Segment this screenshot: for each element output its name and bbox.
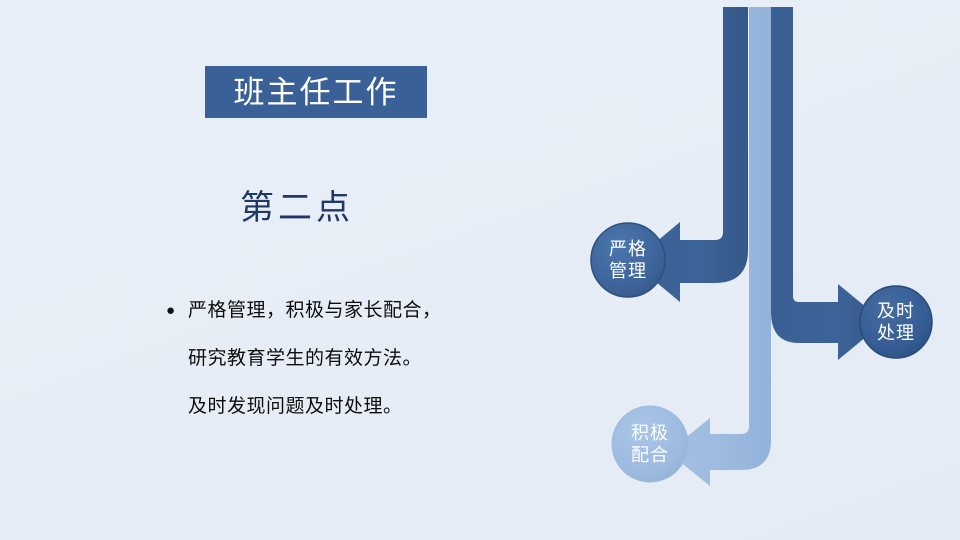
subtitle: 第二点: [240, 192, 354, 226]
node-timely-handling[interactable]: 及时 处理: [860, 286, 932, 358]
process-diagram: 严格 管理 及时 处理 积极 配合: [0, 0, 960, 540]
node-strict-management[interactable]: 严格 管理: [591, 223, 665, 297]
list-item: ● 研究教育学生的有效方法。: [162, 346, 562, 372]
bullet-icon: ●: [162, 298, 188, 324]
list-item: ● 严格管理，积极与家长配合，: [162, 298, 562, 324]
node-label-timely-handling-line1: 及时: [877, 301, 915, 321]
node-label-active-cooperation-line1: 积极: [631, 423, 669, 443]
title-banner: 班主任工作: [205, 66, 427, 118]
node-active-cooperation[interactable]: 积极 配合: [612, 406, 688, 482]
node-label-strict-management-line1: 严格: [609, 239, 647, 259]
node-circle-strict-management: [591, 223, 665, 297]
node-circle-active-cooperation: [612, 406, 688, 482]
node-label-timely-handling-line2: 处理: [877, 323, 915, 343]
node-label-active-cooperation-line2: 配合: [631, 445, 669, 465]
list-item-text: 及时发现问题及时处理。: [188, 394, 403, 420]
list-item-text: 研究教育学生的有效方法。: [188, 346, 422, 372]
list-item-text: 严格管理，积极与家长配合，: [188, 298, 442, 324]
node-circle-timely-handling: [860, 286, 932, 358]
bullet-list: ● 严格管理，积极与家长配合， ● 研究教育学生的有效方法。 ● 及时发现问题及…: [162, 298, 562, 442]
page-title: 班主任工作: [234, 77, 399, 108]
slide-canvas: 严格 管理 及时 处理 积极 配合 班主任工作 第二点 ● 严格管理，积极与家长…: [0, 0, 960, 540]
node-label-strict-management-line2: 管理: [609, 261, 647, 281]
list-item: ● 及时发现问题及时处理。: [162, 394, 562, 420]
